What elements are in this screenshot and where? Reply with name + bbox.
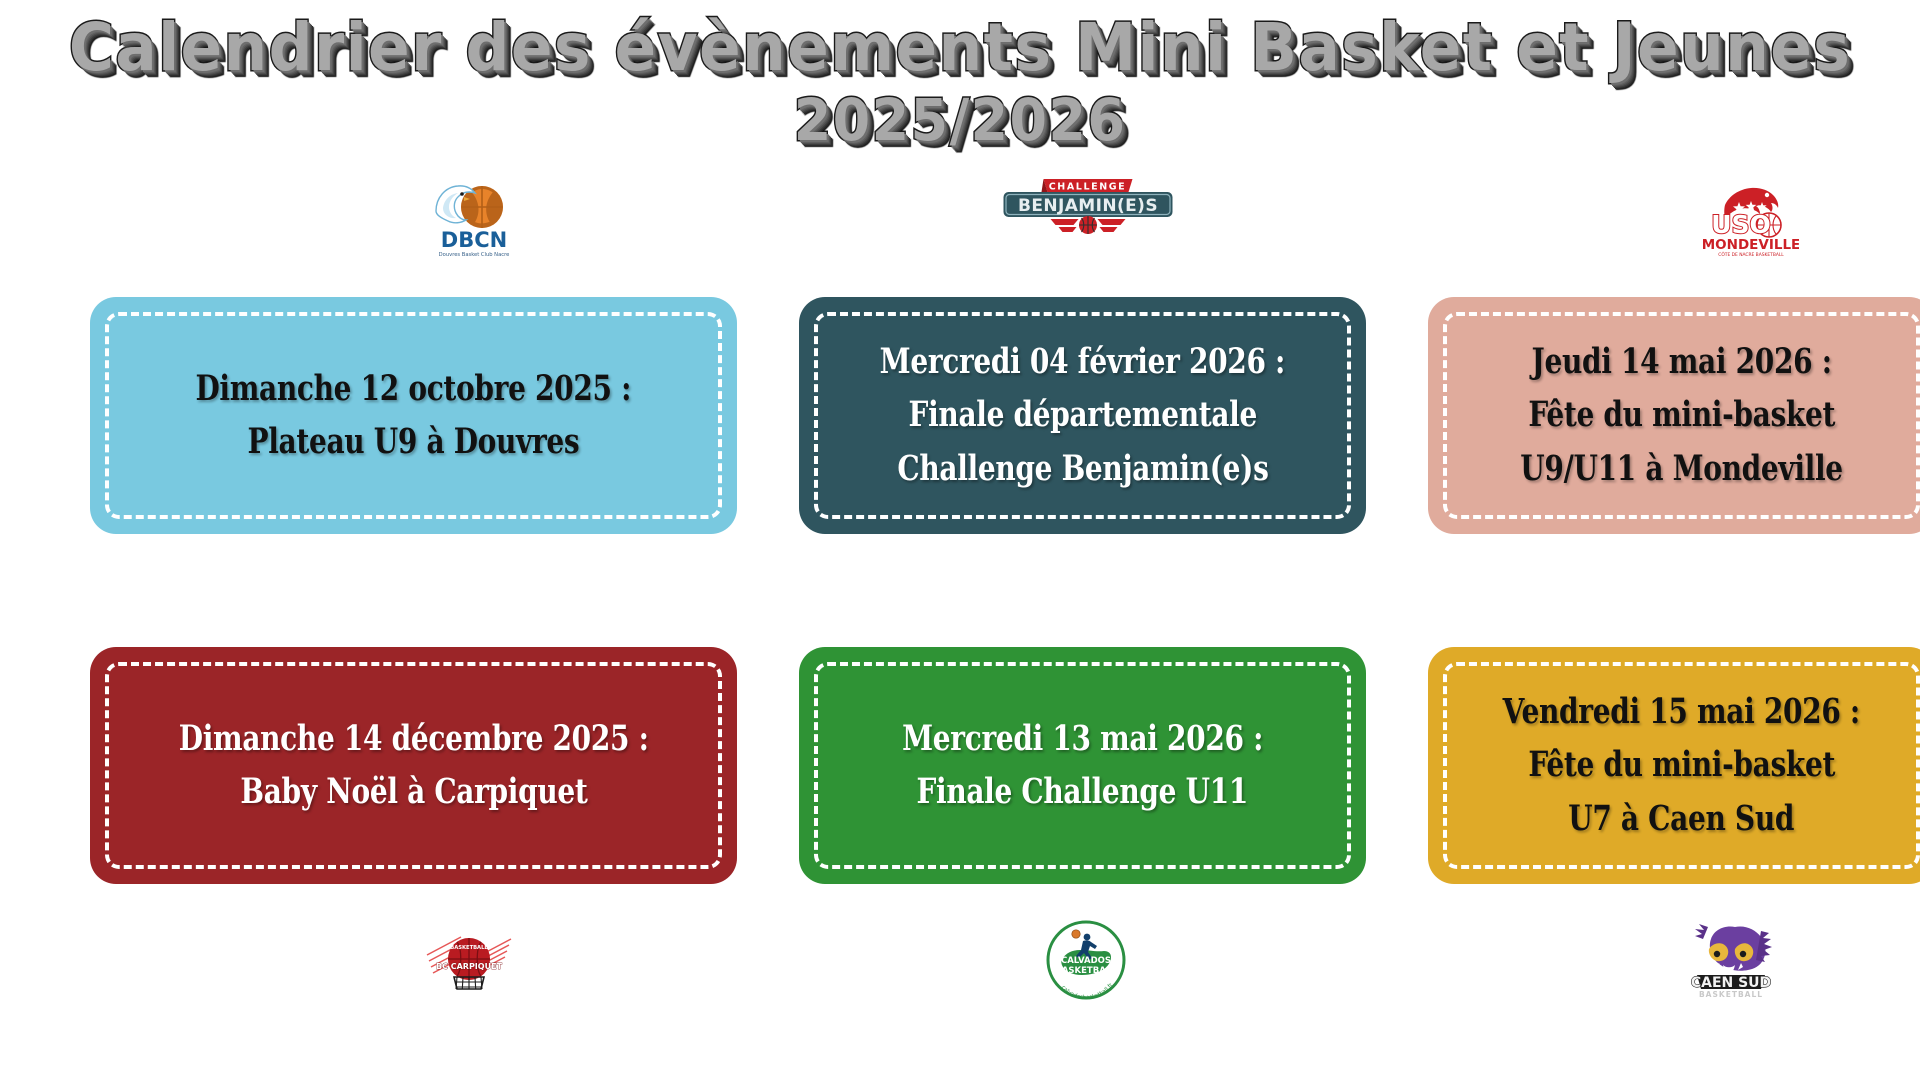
calvados-basketball-logo: CALVADOS BASKETBALL calvadosbasketball.f… xyxy=(1038,919,1134,1001)
dbcn-logo-text: DBCN xyxy=(440,228,506,252)
calvados-player-silhouette xyxy=(1076,934,1097,960)
event-1-line-1: Dimanche 12 octobre 2025 : xyxy=(196,362,632,415)
carpiquet-logo-sport: BASKETBALL xyxy=(450,945,488,951)
carpiquet-logo-text: BC CARPIQUET xyxy=(436,962,503,971)
event-card-5[interactable]: Mercredi 13 mai 2026 : Finale Challenge … xyxy=(799,647,1366,884)
challenge-logo-text: CHALLENGE xyxy=(1048,181,1126,192)
uso-logo-text: USO xyxy=(1712,210,1772,239)
event-5-line-2: Finale Challenge U11 xyxy=(917,765,1249,818)
mondeville-logo-subtext: CÔTE DE NACRE BASKETBALL xyxy=(1719,251,1785,258)
calvados-logo-url: calvadosbasketball.fr xyxy=(1060,982,1115,1001)
event-cell-6: Vendredi 15 mai 2026 : Fête du mini-bask… xyxy=(1428,615,1920,915)
caen-sud-logo-sport: BASKETBALL xyxy=(1699,990,1763,999)
poster-canvas: Calendrier des évènements Mini Basket et… xyxy=(0,0,1920,1080)
challenge-benjamines-logo: CHALLENGE BENJAMIN(E)S xyxy=(995,177,1180,237)
page-title: Calendrier des évènements Mini Basket et… xyxy=(0,14,1920,150)
uso-mondeville-logo: USO MONDEVILLE CÔTE DE NACRE BASKETBALL xyxy=(1703,177,1799,259)
event-card-4[interactable]: Dimanche 14 décembre 2025 : Baby Noël à … xyxy=(90,647,737,884)
title-line-2: 2025/2026 xyxy=(67,91,1853,150)
calvados-logo-text: CALVADOS xyxy=(1061,956,1111,966)
calvados-logo-sport: BASKETBALL xyxy=(1055,966,1117,976)
dbcn-logo-subtext: Douvres Basket Club Nacre xyxy=(438,252,509,258)
event-6-line-3: U7 à Caen Sud xyxy=(1568,792,1794,845)
events-grid: DBCN Douvres Basket Club Nacre Dimanche … xyxy=(90,265,1830,915)
event-2-line-1: Mercredi 04 février 2026 : xyxy=(880,335,1285,388)
event-card-3[interactable]: Jeudi 14 mai 2026 : Fête du mini-basket … xyxy=(1428,297,1920,534)
mondeville-logo-text: MONDEVILLE xyxy=(1703,237,1799,253)
event-2-line-2: Finale départementale xyxy=(909,388,1257,441)
event-card-6[interactable]: Vendredi 15 mai 2026 : Fête du mini-bask… xyxy=(1428,647,1920,884)
event-card-1[interactable]: Dimanche 12 octobre 2025 : Plateau U9 à … xyxy=(90,297,737,534)
event-cell-3: USO MONDEVILLE CÔTE DE NACRE BASKETBALL … xyxy=(1428,265,1920,565)
event-1-line-2: Plateau U9 à Douvres xyxy=(248,415,580,468)
event-3-line-2: Fête du mini-basket xyxy=(1528,388,1835,441)
event-4-line-2: Baby Noël à Carpiquet xyxy=(240,765,587,818)
event-cell-5: Mercredi 13 mai 2026 : Finale Challenge … xyxy=(799,615,1366,915)
bc-carpiquet-logo: BASKETBALL BC CARPIQUET xyxy=(421,919,517,1001)
dbcn-douvres-basket-club-nacre-logo: DBCN Douvres Basket Club Nacre xyxy=(426,177,522,259)
event-4-line-1: Dimanche 14 décembre 2025 : xyxy=(179,712,649,765)
event-3-line-3: U9/U11 à Mondeville xyxy=(1520,442,1842,495)
caen-sud-logo-text: CAEN SUD xyxy=(1691,975,1771,991)
event-cell-1: DBCN Douvres Basket Club Nacre Dimanche … xyxy=(90,265,737,565)
event-cell-2: CHALLENGE BENJAMIN(E)S Mercredi 04 févri… xyxy=(799,265,1366,565)
event-card-2[interactable]: Mercredi 04 février 2026 : Finale départ… xyxy=(799,297,1366,534)
event-6-line-1: Vendredi 15 mai 2026 : xyxy=(1503,685,1860,738)
title-line-1: Calendrier des évènements Mini Basket et… xyxy=(67,14,1853,81)
benjamines-logo-text: BENJAMIN(E)S xyxy=(1018,196,1158,216)
event-3-line-1: Jeudi 14 mai 2026 : xyxy=(1531,335,1831,388)
event-cell-4: Dimanche 14 décembre 2025 : Baby Noël à … xyxy=(90,615,737,915)
event-6-line-2: Fête du mini-basket xyxy=(1528,738,1835,791)
event-2-line-3: Challenge Benjamin(e)s xyxy=(897,442,1268,495)
caen-sud-basketball-logo: CAEN SUD BASKETBALL xyxy=(1683,919,1779,1001)
event-5-line-1: Mercredi 13 mai 2026 : xyxy=(902,712,1263,765)
